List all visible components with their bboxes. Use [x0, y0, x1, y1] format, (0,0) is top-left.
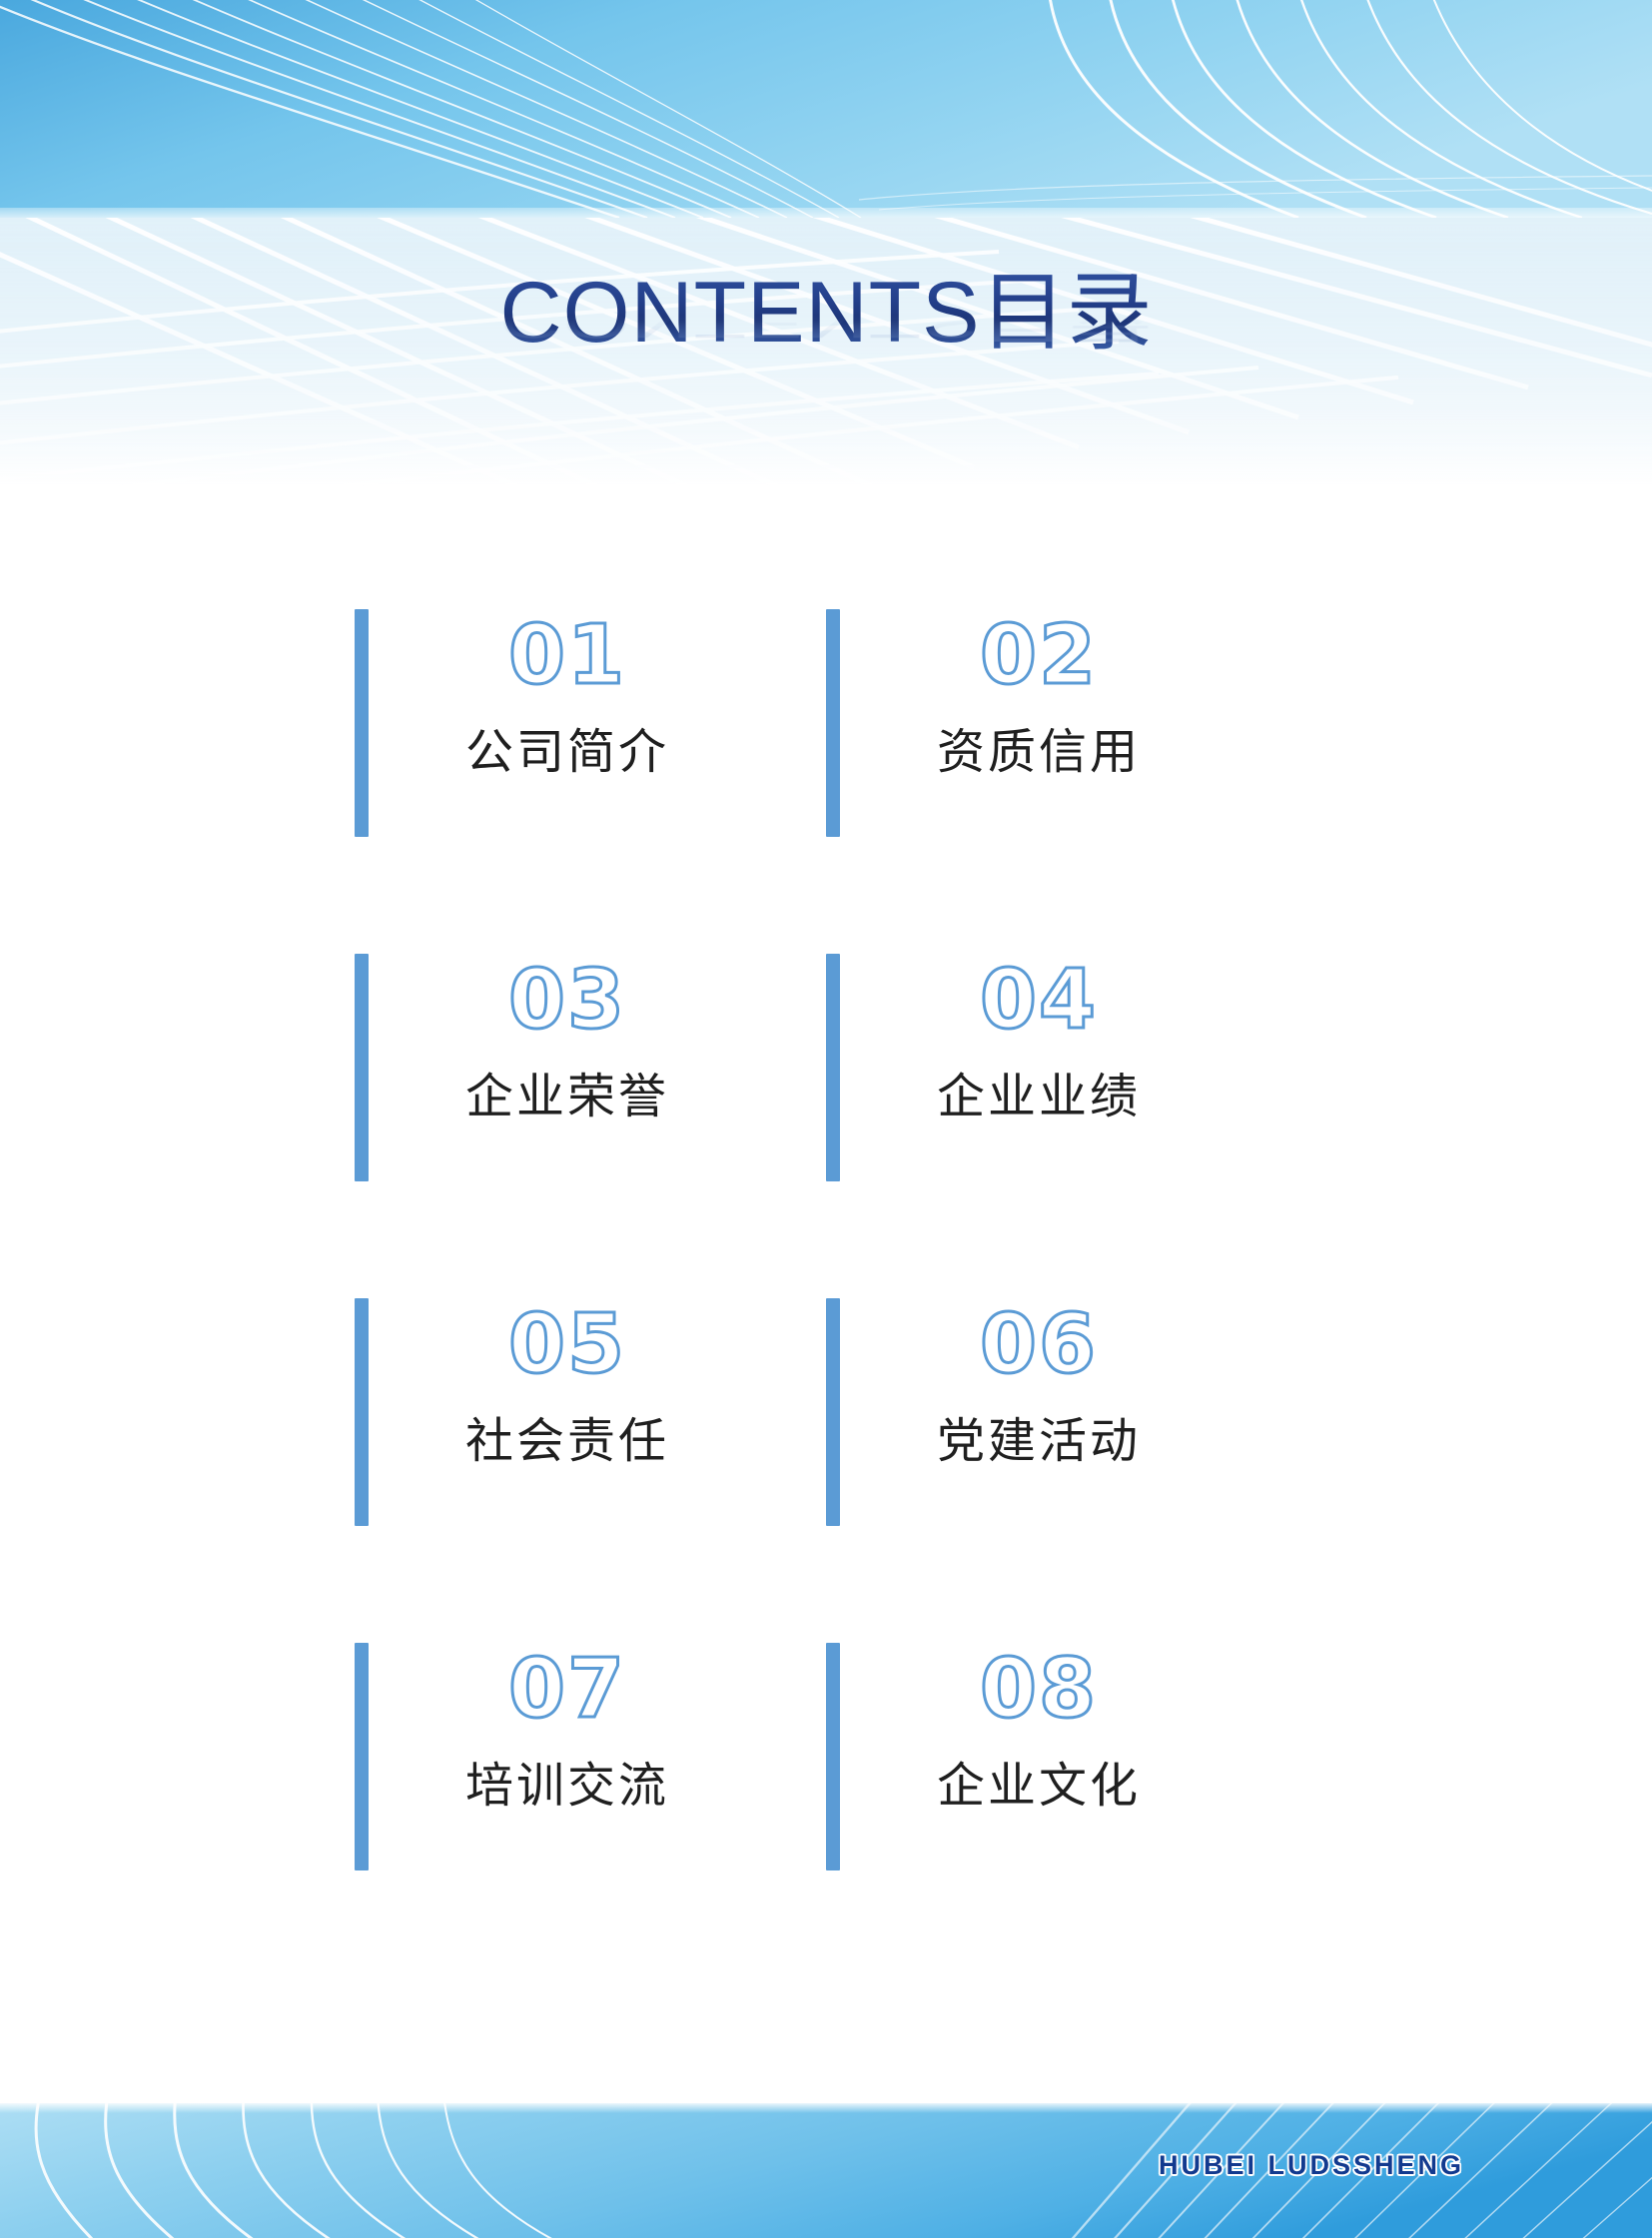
accent-bar — [826, 609, 840, 837]
accent-bar — [355, 1643, 369, 1870]
toc-label: 企业业绩 — [937, 1070, 1141, 1124]
toc-number: 04 — [980, 958, 1098, 1044]
toc-label: 公司简介 — [465, 725, 669, 780]
toc-number: 02 — [980, 613, 1098, 699]
toc-number: 01 — [508, 613, 626, 699]
slide-canvas: CONTENTS目录 CONTENTS目录 01 公司简介 02 资质信用 03 — [0, 0, 1652, 2238]
toc-item-02[interactable]: 02 资质信用 — [826, 599, 1297, 944]
toc-label: 资质信用 — [937, 725, 1141, 780]
toc-number: 05 — [508, 1302, 626, 1388]
accent-bar — [355, 1298, 369, 1526]
toc-label: 企业荣誉 — [465, 1070, 669, 1124]
title-band-mesh — [0, 218, 1652, 487]
banner-top-edge-glow — [0, 2103, 1652, 2113]
accent-bar — [826, 954, 840, 1181]
toc-item-01[interactable]: 01 公司简介 — [355, 599, 826, 944]
toc-label: 党建活动 — [937, 1414, 1141, 1469]
title-band — [0, 218, 1652, 487]
toc-label: 培训交流 — [465, 1759, 669, 1814]
accent-bar — [826, 1298, 840, 1526]
toc-number: 08 — [980, 1647, 1098, 1733]
accent-bar — [355, 954, 369, 1181]
top-banner — [0, 0, 1652, 218]
toc-number: 06 — [980, 1302, 1098, 1388]
footer-brand: HUBEI LUDSSHENG — [1159, 2150, 1464, 2181]
toc-grid: 01 公司简介 02 资质信用 03 企业荣誉 04 企业业绩 — [0, 599, 1652, 1977]
toc-item-05[interactable]: 05 社会责任 — [355, 1288, 826, 1633]
toc-number: 03 — [508, 958, 626, 1044]
accent-bar — [355, 609, 369, 837]
toc-item-08[interactable]: 08 企业文化 — [826, 1633, 1297, 1977]
toc-item-03[interactable]: 03 企业荣誉 — [355, 944, 826, 1288]
bottom-banner: HUBEI LUDSSHENG — [0, 2103, 1652, 2238]
toc-label: 企业文化 — [937, 1759, 1141, 1814]
toc-item-06[interactable]: 06 党建活动 — [826, 1288, 1297, 1633]
toc-item-07[interactable]: 07 培训交流 — [355, 1633, 826, 1977]
top-banner-lines — [0, 0, 1652, 218]
accent-bar — [826, 1643, 840, 1870]
toc-item-04[interactable]: 04 企业业绩 — [826, 944, 1297, 1288]
toc-number: 07 — [508, 1647, 626, 1733]
toc-label: 社会责任 — [465, 1414, 669, 1469]
